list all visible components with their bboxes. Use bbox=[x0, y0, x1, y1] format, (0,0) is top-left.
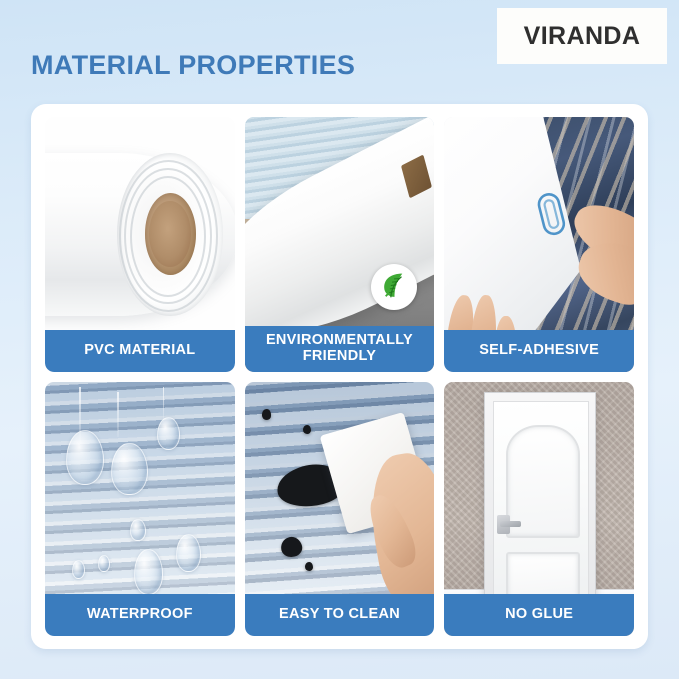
dirt-stain bbox=[262, 409, 271, 419]
features-card: PVC MATERIAL bbox=[31, 104, 648, 649]
water-droplet bbox=[72, 560, 85, 580]
feature-tile-self-adhesive[interactable]: SELF-ADHESIVE bbox=[444, 117, 634, 372]
water-droplet bbox=[66, 430, 104, 485]
dirt-stain bbox=[303, 425, 311, 434]
door-handle-lever bbox=[500, 521, 521, 527]
feature-label-environmentally-friendly: ENVIRONMENTALLY FRIENDLY bbox=[245, 326, 435, 372]
water-droplet bbox=[130, 519, 145, 541]
water-droplet bbox=[98, 555, 109, 572]
feature-tile-waterproof[interactable]: WATERPROOF bbox=[45, 382, 235, 637]
feature-label-waterproof: WATERPROOF bbox=[45, 594, 235, 636]
feature-label-self-adhesive: SELF-ADHESIVE bbox=[444, 330, 634, 372]
dirt-stain bbox=[279, 535, 304, 560]
door bbox=[493, 401, 590, 608]
features-grid: PVC MATERIAL bbox=[45, 117, 634, 636]
cardboard-core-inner bbox=[149, 201, 191, 268]
feature-label-pvc-material: PVC MATERIAL bbox=[45, 330, 235, 372]
cardboard-core bbox=[145, 193, 196, 274]
feature-tile-pvc-material[interactable]: PVC MATERIAL bbox=[45, 117, 235, 372]
feature-tile-easy-to-clean[interactable]: EASY TO CLEAN bbox=[245, 382, 435, 637]
water-droplet bbox=[111, 443, 147, 496]
water-droplet bbox=[134, 549, 163, 594]
page-title: MATERIAL PROPERTIES bbox=[31, 50, 355, 81]
feature-label-easy-to-clean: EASY TO CLEAN bbox=[245, 594, 435, 636]
droplet-trail bbox=[163, 387, 165, 423]
feature-tile-no-glue[interactable]: NO GLUE bbox=[444, 382, 634, 637]
dirt-stain bbox=[305, 562, 313, 571]
brand-name: VIRANDA bbox=[524, 22, 641, 51]
feature-tile-environmentally-friendly[interactable]: ENVIRONMENTALLY FRIENDLY bbox=[245, 117, 435, 372]
brand-logo-box: VIRANDA bbox=[497, 8, 667, 64]
water-droplet bbox=[176, 534, 201, 572]
water-droplet bbox=[157, 417, 180, 450]
door-frame bbox=[484, 392, 596, 608]
droplet-trail bbox=[117, 392, 119, 438]
feature-label-no-glue: NO GLUE bbox=[444, 594, 634, 636]
